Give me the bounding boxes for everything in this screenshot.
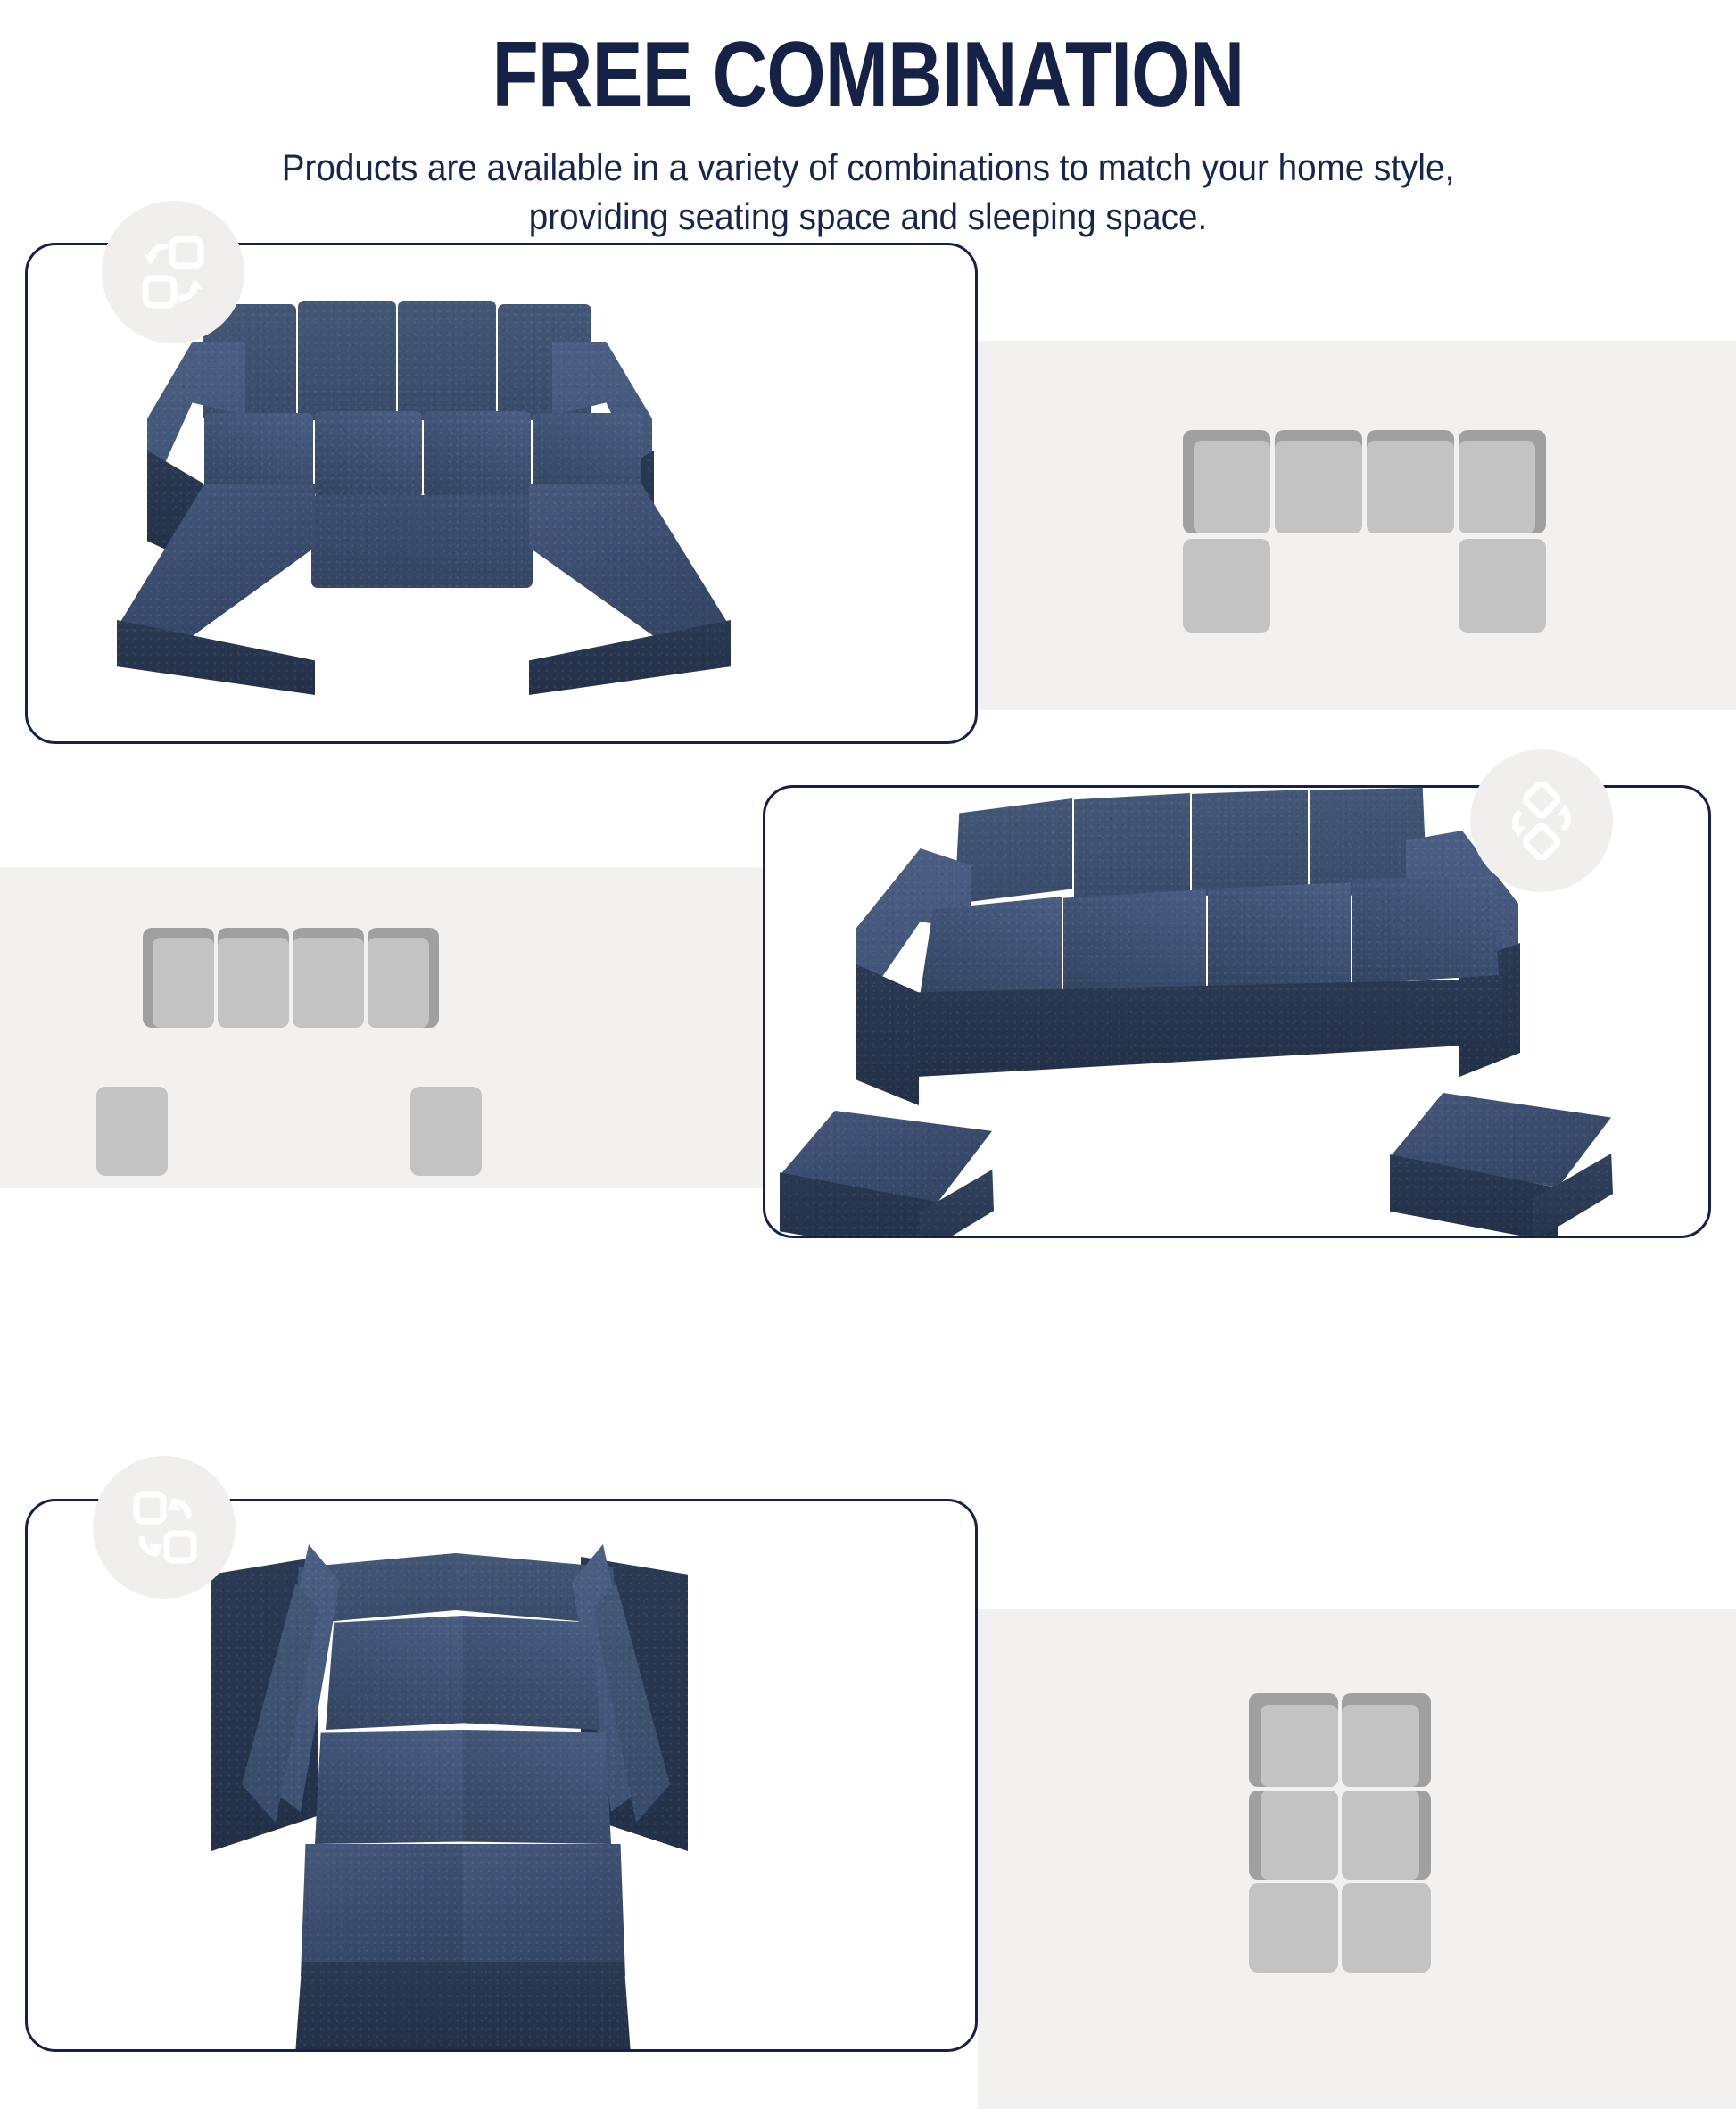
backrest-2 (1074, 793, 1190, 900)
module-r1c1-cushion (1261, 1705, 1338, 1787)
backrest-2 (298, 301, 396, 420)
backrest-3 (398, 301, 496, 420)
center-base (311, 495, 533, 588)
seat-cushion-3 (424, 411, 531, 499)
backrest-3 (1192, 790, 1308, 898)
seat-cushion-1 (919, 897, 1062, 1002)
rotate-modules-icon (1502, 782, 1581, 860)
seat-cushion-2 (315, 411, 422, 499)
module-seat-4-cushion (1459, 441, 1535, 533)
arm-left-side (856, 964, 919, 1105)
module-seat-2-cushion (1275, 441, 1362, 533)
badge-reconfigure-modules (93, 1456, 236, 1599)
module-ottoman-right (410, 1087, 482, 1176)
bed-cushion-r2c1 (315, 1730, 463, 1844)
bed-front-face (295, 1962, 631, 2052)
bed-cushion-r2c2 (463, 1730, 611, 1844)
subtitle-line-1: Products are available in a variety of c… (70, 144, 1666, 193)
module-ottoman-left (1183, 539, 1270, 633)
module-r2c2-cushion (1342, 1791, 1419, 1880)
badge-swap-modules (102, 201, 244, 343)
seat-cushion-3 (1208, 882, 1351, 991)
page-subtitle: Products are available in a variety of c… (70, 124, 1666, 241)
diagram-panel-bed (978, 1609, 1736, 2109)
seat-cushion-4 (1352, 875, 1499, 984)
module-ottoman-left (96, 1087, 168, 1176)
module-r2c1-cushion (1261, 1791, 1338, 1880)
backrest-1 (955, 798, 1072, 904)
bed-cushion-r1c1 (326, 1616, 463, 1730)
module-ottoman-left (1249, 1883, 1338, 1973)
module-seat-3-cushion (1367, 441, 1454, 533)
module-ottoman-right (1459, 539, 1546, 633)
bed-cushion-r1c2 (463, 1616, 600, 1730)
module-seat-2-cushion (218, 938, 289, 1028)
module-seat-4-cushion (368, 938, 429, 1028)
module-ottoman-right (1342, 1883, 1431, 1973)
sofa-base-front (917, 979, 1502, 1077)
diagram-panel-sofa-ottomans (0, 867, 767, 1188)
module-seat-3-cushion (293, 938, 364, 1028)
diagram-panel-u-shape (978, 341, 1736, 710)
seat-cushion-2 (1063, 889, 1206, 997)
reconfigure-modules-icon (126, 1489, 203, 1566)
module-r1c2-cushion (1342, 1705, 1419, 1787)
chaise-right-front (529, 620, 731, 695)
subtitle-line-2: providing seating space and sleeping spa… (70, 193, 1666, 242)
header: FREE COMBINATION Products are available … (0, 0, 1736, 241)
swap-modules-icon (135, 234, 211, 310)
bed-cushion-r3c1 (301, 1844, 463, 1976)
page-title: FREE COMBINATION (156, 0, 1580, 124)
chaise-left-front (117, 620, 315, 695)
bed-cushion-r3c2 (463, 1844, 625, 1976)
badge-rotate-modules (1470, 749, 1613, 892)
module-seat-1-cushion (153, 938, 214, 1028)
module-seat-1-cushion (1194, 441, 1270, 533)
